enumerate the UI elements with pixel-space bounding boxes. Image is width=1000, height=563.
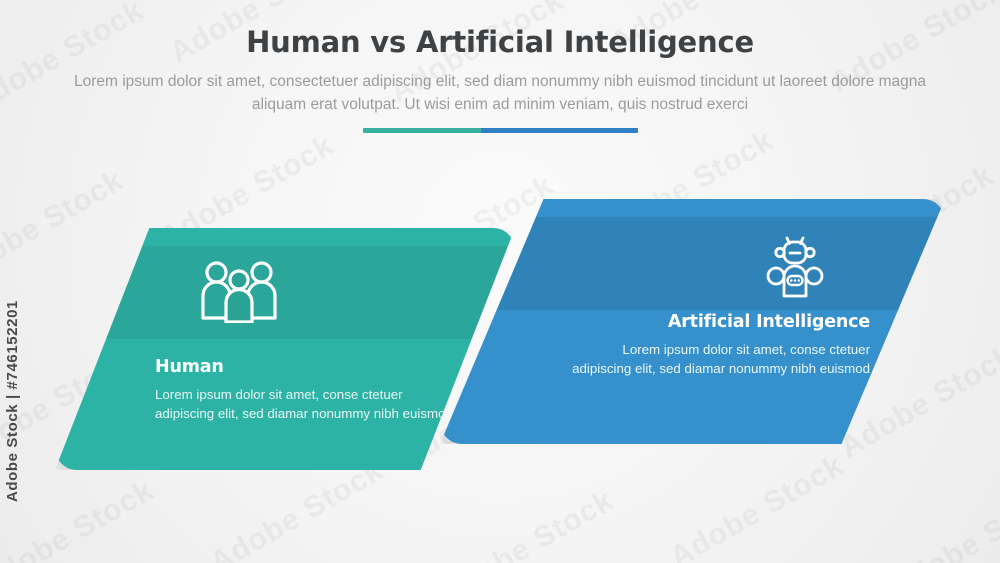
- card-human-text: Human Lorem ipsum dolor sit amet, conse …: [155, 356, 455, 423]
- card-ai-text: Artificial Intelligence Lorem ipsum dolo…: [570, 311, 870, 378]
- watermark-tile: Adobe Stock: [665, 449, 850, 563]
- watermark-tile: Adobe Stock: [435, 484, 620, 563]
- watermark-tile: Adobe Stock: [0, 474, 160, 563]
- watermark-tile: Adobe Stock: [885, 479, 1000, 563]
- divider-segment-left: [363, 128, 481, 133]
- stock-credit-label: Adobe Stock | #746152201: [4, 300, 21, 502]
- people-group-icon: [200, 261, 278, 328]
- robot-icon: [765, 232, 825, 305]
- page-subtitle: Lorem ipsum dolor sit amet, consectetuer…: [60, 70, 940, 116]
- divider-segment-right: [481, 128, 638, 133]
- card-human-title: Human: [155, 356, 455, 378]
- card-ai-title: Artificial Intelligence: [570, 311, 870, 333]
- header: Human vs Artificial Intelligence Lorem i…: [0, 22, 1000, 116]
- header-divider: [363, 128, 638, 133]
- card-ai-description: Lorem ipsum dolor sit amet, conse ctetue…: [570, 340, 870, 378]
- watermark-tile: Adobe Stock: [205, 454, 390, 563]
- watermark-tile: Adobe Stock: [0, 164, 130, 291]
- card-artificial-intelligence[interactable]: Artificial Intelligence Lorem ipsum dolo…: [440, 199, 945, 444]
- card-human-description: Lorem ipsum dolor sit amet, conse ctetue…: [155, 385, 455, 423]
- page-title: Human vs Artificial Intelligence: [0, 22, 1000, 62]
- infographic-canvas: Adobe Stock Adobe Stock Adobe Stock Adob…: [0, 0, 1000, 563]
